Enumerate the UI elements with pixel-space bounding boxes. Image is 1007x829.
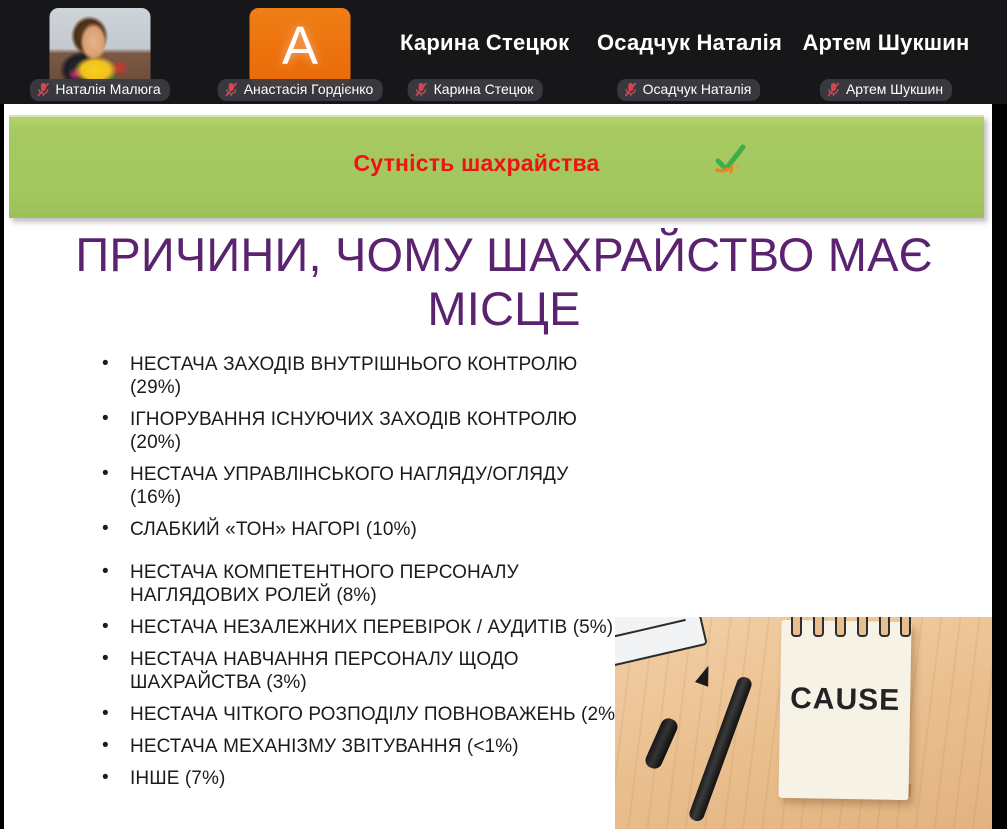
bullet-item: НЕСТАЧА ЗАХОДІВ ВНУТРІШНЬОГО КОНТРОЛЮ (2… bbox=[82, 353, 622, 399]
slide-bullet-list: НЕСТАЧА ЗАХОДІВ ВНУТРІШНЬОГО КОНТРОЛЮ (2… bbox=[82, 353, 622, 790]
participant-display-name: Артем Шукшин bbox=[797, 30, 975, 56]
mic-off-icon bbox=[827, 82, 840, 97]
participant-tile-5[interactable]: Артем Шукшин Артем Шукшин bbox=[797, 0, 975, 104]
participant-tile-4[interactable]: Осадчук Наталія Осадчук Наталія bbox=[597, 0, 780, 104]
participant-name: Анастасія Гордієнко bbox=[244, 81, 374, 98]
participant-name-chip: Наталія Малюга bbox=[29, 79, 169, 101]
bullet-item: НЕСТАЧА НЕЗАЛЕЖНИХ ПЕРЕВІРОК / АУДИТІВ (… bbox=[82, 616, 622, 639]
notepad-object: CAUSE bbox=[778, 620, 911, 800]
mic-off-icon bbox=[624, 82, 637, 97]
pen-object bbox=[687, 675, 753, 823]
spiral-ring bbox=[791, 617, 802, 637]
participant-name: Карина Стецюк bbox=[434, 81, 534, 98]
spiral-ring bbox=[900, 617, 911, 637]
participant-name: Осадчук Наталія bbox=[643, 81, 752, 98]
mic-off-icon bbox=[415, 82, 428, 97]
bullet-item: СЛАБКИЙ «ТОН» НАГОРІ (10%) bbox=[82, 518, 622, 541]
participant-tile-2[interactable]: A Анастасія Гордієнко bbox=[210, 0, 390, 104]
participant-tile-3[interactable]: Карина Стецюк Карина Стецюк bbox=[400, 0, 550, 104]
spiral-ring bbox=[835, 617, 846, 637]
slide-banner: Сутність шахрайства bbox=[9, 115, 984, 218]
bullet-item: ІГНОРУВАННЯ ІСНУЮЧИХ ЗАХОДІВ КОНТРОЛЮ (2… bbox=[82, 408, 622, 454]
spiral-ring bbox=[879, 617, 890, 637]
mic-off-icon bbox=[36, 82, 49, 97]
pen-tip bbox=[695, 663, 715, 687]
notepad-word: CAUSE bbox=[780, 682, 911, 718]
participant-avatar: A bbox=[250, 8, 351, 86]
spiral-ring bbox=[813, 617, 824, 637]
participant-name-chip: Карина Стецюк bbox=[408, 79, 543, 101]
bullet-item: НЕСТАЧА УПРАВЛІНСЬКОГО НАГЛЯДУ/ОГЛЯДУ (1… bbox=[82, 463, 622, 509]
participant-display-name: Осадчук Наталія bbox=[597, 30, 780, 56]
shared-slide: Сутність шахрайства ПРИЧИНИ, ЧОМУ ШАХРАЙ… bbox=[0, 104, 1007, 829]
participant-name: Артем Шукшин bbox=[846, 81, 943, 98]
bullet-item: НЕСТАЧА ЧІТКОГО РОЗПОДІЛУ ПОВНОВАЖЕНЬ (2… bbox=[82, 703, 622, 726]
keyboard-object bbox=[615, 617, 708, 672]
mic-off-icon bbox=[225, 82, 238, 97]
participant-display-name: Карина Стецюк bbox=[400, 30, 550, 56]
video-participant-strip: Наталія Малюга A Анастасія Гордіє bbox=[0, 0, 1007, 108]
banner-title: Сутність шахрайства bbox=[9, 150, 944, 177]
bullet-item: НЕСТАЧА НАВЧАННЯ ПЕРСОНАЛУ ЩОДО ШАХРАЙСТ… bbox=[82, 648, 622, 694]
participant-photo bbox=[49, 8, 150, 86]
bullet-item: НЕСТАЧА КОМПЕТЕНТНОГО ПЕРСОНАЛУ НАГЛЯДОВ… bbox=[82, 561, 622, 607]
bullet-item: ІНШЕ (7%) bbox=[82, 767, 622, 790]
participant-name: Наталія Малюга bbox=[55, 81, 160, 98]
participant-name-chip: Анастасія Гордієнко bbox=[218, 79, 383, 101]
participant-name-chip: Артем Шукшин bbox=[820, 79, 952, 101]
screen-root: Наталія Малюга A Анастасія Гордіє bbox=[0, 0, 1007, 829]
slide-title: ПРИЧИНИ, ЧОМУ ШАХРАЙСТВО МАЄ МІСЦЕ bbox=[64, 228, 944, 336]
spiral-ring bbox=[857, 617, 868, 637]
participant-tile-1[interactable]: Наталія Малюга bbox=[32, 0, 167, 104]
cause-notepad-photo: CAUSE bbox=[615, 617, 992, 829]
avatar-initial: A bbox=[282, 19, 318, 73]
check-mark-icon bbox=[710, 141, 752, 181]
pen-cap bbox=[643, 716, 680, 771]
participant-name-chip: Осадчук Наталія bbox=[617, 79, 761, 101]
bullet-item: НЕСТАЧА МЕХАНІЗМУ ЗВІТУВАННЯ (<1%) bbox=[82, 735, 622, 758]
